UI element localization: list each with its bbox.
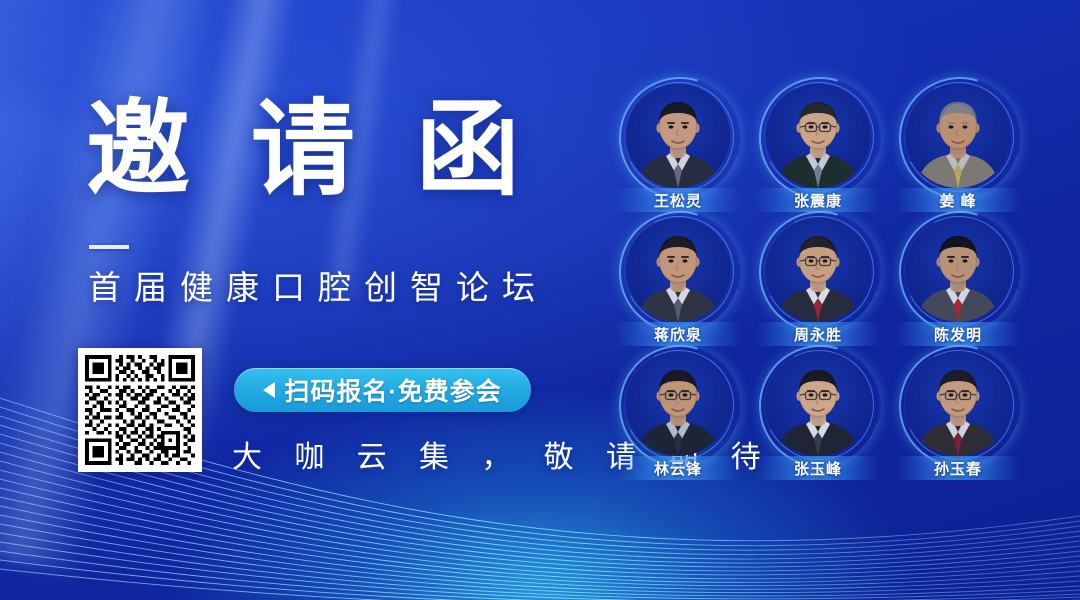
speaker-nameplate: 孙玉春 — [896, 456, 1020, 480]
speaker-name: 张玉峰 — [794, 458, 842, 479]
speaker-card[interactable]: 蒋欣泉 — [608, 218, 748, 352]
qr-code[interactable] — [78, 348, 202, 472]
speaker-name: 蒋欣泉 — [654, 324, 702, 345]
speaker-card[interactable]: 陈发明 — [888, 218, 1028, 352]
avatar-ring — [906, 218, 1010, 322]
avatar-ring — [766, 352, 870, 456]
portrait-image — [766, 84, 870, 188]
portrait-image — [766, 352, 870, 456]
portrait-image — [766, 218, 870, 322]
speaker-card[interactable]: 张玉峰 — [748, 352, 888, 486]
title-divider — [89, 245, 129, 249]
avatar-ring — [766, 84, 870, 188]
avatar — [626, 218, 730, 322]
page-title: 邀 请 函 — [86, 98, 536, 202]
speaker-nameplate: 王松灵 — [616, 188, 740, 212]
avatar — [766, 352, 870, 456]
poster-left-column: 邀 请 函 首届健康口腔创智论坛 — [0, 0, 600, 600]
left-arrow-icon — [263, 382, 275, 398]
portrait-image — [906, 84, 1010, 188]
speaker-card[interactable]: 张震康 — [748, 84, 888, 218]
scan-register-label: 扫码报名·免费参会 — [284, 372, 501, 408]
invitation-poster: 邀 请 函 首届健康口腔创智论坛 — [0, 0, 1080, 600]
avatar-ring — [626, 352, 730, 456]
speaker-card[interactable]: 林云锋 — [608, 352, 748, 486]
avatar-ring — [626, 218, 730, 322]
avatar — [626, 84, 730, 188]
qr-code-image — [85, 355, 195, 465]
portrait-image — [626, 352, 730, 456]
speaker-name: 姜 峰 — [939, 190, 976, 211]
speaker-name: 孙玉春 — [934, 458, 982, 479]
avatar — [766, 218, 870, 322]
speaker-name: 林云锋 — [654, 458, 702, 479]
speaker-name: 周永胜 — [794, 324, 842, 345]
speaker-nameplate: 周永胜 — [756, 322, 880, 346]
speaker-card[interactable]: 王松灵 — [608, 84, 748, 218]
speaker-grid: 王松灵 — [608, 84, 1028, 494]
speaker-nameplate: 张震康 — [756, 188, 880, 212]
portrait-image — [906, 218, 1010, 322]
speaker-card[interactable]: 姜 峰 — [888, 84, 1028, 218]
portrait-image — [906, 352, 1010, 456]
speaker-nameplate: 林云锋 — [616, 456, 740, 480]
scan-register-button[interactable]: 扫码报名·免费参会 — [234, 368, 531, 412]
speaker-card[interactable]: 周永胜 — [748, 218, 888, 352]
portrait-image — [626, 218, 730, 322]
avatar — [906, 84, 1010, 188]
speaker-nameplate: 蒋欣泉 — [616, 322, 740, 346]
avatar — [626, 352, 730, 456]
speaker-name: 陈发明 — [934, 324, 982, 345]
portrait-image — [626, 84, 730, 188]
speaker-name: 张震康 — [794, 190, 842, 211]
poster-subtitle: 首届健康口腔创智论坛 — [88, 268, 548, 308]
speaker-nameplate: 陈发明 — [896, 322, 1020, 346]
avatar — [906, 218, 1010, 322]
speaker-name: 王松灵 — [654, 190, 702, 211]
avatar-ring — [766, 218, 870, 322]
speaker-card[interactable]: 孙玉春 — [888, 352, 1028, 486]
speaker-nameplate: 张玉峰 — [756, 456, 880, 480]
avatar — [906, 352, 1010, 456]
avatar — [766, 84, 870, 188]
speaker-nameplate: 姜 峰 — [896, 188, 1020, 212]
avatar-ring — [906, 84, 1010, 188]
avatar-ring — [626, 84, 730, 188]
avatar-ring — [906, 352, 1010, 456]
